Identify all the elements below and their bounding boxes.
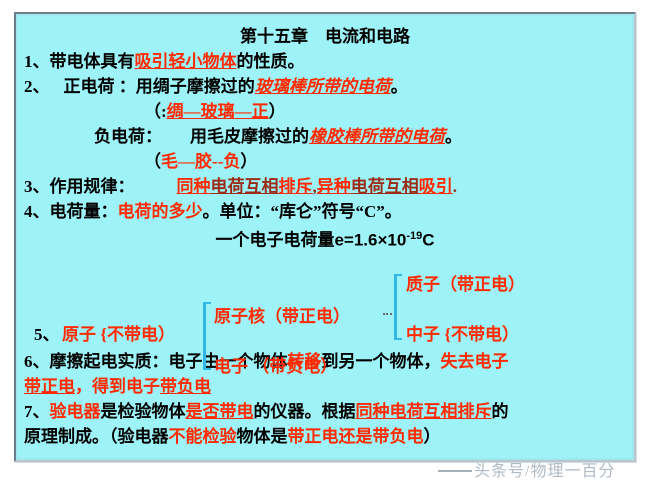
slide-text-body: 第十五章 电流和电路 1、带电体具有吸引轻小物体的性质。 2、正电荷 ：用绸子摩… xyxy=(18,16,632,458)
item5-root-label: 原子 {不带电） xyxy=(62,320,175,345)
list-item-3: 3、作用规律：同种电荷互相排斥,异种电荷互相吸引. xyxy=(24,174,626,199)
item2-neg-paren-close: ） xyxy=(240,152,257,171)
list-item-4: 4、电荷量：电荷的多少。单位：“库仑”符号“C”。 xyxy=(24,199,626,224)
item4-formula-a: 一个电子电荷量e=1.6×10 xyxy=(215,231,406,250)
atom-brace-left xyxy=(203,302,206,370)
item4-formula-exponent: -19 xyxy=(406,230,422,242)
atom-neutron-label: 中子 {不带电） xyxy=(406,320,519,345)
nucleus-connector-dots xyxy=(383,313,392,315)
watermark-rule xyxy=(438,470,472,472)
atom-brace-left-bottom-tick xyxy=(203,368,211,370)
item2-highlight: 玻璃棒所带的电荷 xyxy=(255,77,391,96)
item7-number: 7、 xyxy=(24,402,50,421)
item2-label-positive: 正电荷 ： xyxy=(64,77,136,96)
item7-highlight-a: 验电器 xyxy=(50,402,101,421)
item1-text-a: 带电体具有 xyxy=(50,52,135,71)
item1-highlight: 吸引轻小物体 xyxy=(135,52,237,71)
atom-proton-label: 质子（带正电） xyxy=(406,270,525,295)
nucleus-brace-right-bottom-tick xyxy=(394,338,402,340)
atom-nucleus-label: 原子核（带正电） xyxy=(214,302,350,327)
item3-number: 3、 xyxy=(24,177,50,196)
slide-frame: 第十五章 电流和电路 1、带电体具有吸引轻小物体的性质。 2、正电荷 ：用绸子摩… xyxy=(14,12,636,462)
atom-electron-label: 电子 （带负电） xyxy=(214,352,337,377)
item4-formula-b: C xyxy=(422,231,434,250)
item4-number: 4、 xyxy=(24,202,50,221)
list-item-2: 2、正电荷 ：用绸子摩擦过的玻璃棒所带的电荷。 xyxy=(24,74,626,99)
item1-text-b: 的性质。 xyxy=(237,52,305,71)
item2-neg-highlight: 橡胶棒所带的电荷 xyxy=(309,127,445,146)
item1-number: 1、 xyxy=(24,52,50,71)
item7-highlight-e: 不能检验 xyxy=(169,427,237,446)
atom-structure-diagram: 5、 原子 {不带电） 原子核（带正电） 电子 （带负电） 质子（带正电） xyxy=(18,268,640,380)
page-title: 第十五章 电流和电路 xyxy=(24,24,626,49)
item3-seg7: 吸引 xyxy=(419,177,453,196)
item7-highlight-c: 同种电荷互相排斥 xyxy=(356,402,492,421)
item2-negative: 负电荷：用毛皮摩擦过的橡胶棒所带的电荷。 xyxy=(24,124,626,149)
item7-continued: 原理制成。（验电器不能检验物体是带正电还是带负电） xyxy=(24,424,626,449)
item4-formula: 一个电子电荷量e=1.6×10-19C xyxy=(24,224,626,249)
item3-seg5: 异种 xyxy=(317,177,351,196)
item3-seg2: 电荷互相 xyxy=(211,177,279,196)
item2-label-negative: 负电荷： xyxy=(94,127,162,146)
item7-highlight-d: 验电器 xyxy=(118,427,169,446)
item2-text-b: 。 xyxy=(391,77,408,96)
item2-number: 2、 xyxy=(24,77,50,96)
item7-text-c: 的 xyxy=(492,402,509,421)
item2-paren-close: ） xyxy=(269,102,286,121)
item7-text-f: ） xyxy=(424,427,441,446)
item3-seg3: 排斥 xyxy=(279,177,313,196)
item3-seg8: . xyxy=(453,177,457,196)
item7-text-a: 是检验物体 xyxy=(101,402,186,421)
list-item-7: 7、验电器是检验物体是否带电的仪器。根据同种电荷互相排斥的 xyxy=(24,399,626,424)
item2-neg-text-a: 用毛皮摩擦过的 xyxy=(190,127,309,146)
item5-number: 5、 xyxy=(34,320,60,345)
item2-positive-formula: （:绸—玻璃—正） xyxy=(24,99,626,124)
item3-seg1: 同种 xyxy=(177,177,211,196)
item2-neg-paren-open: （ xyxy=(144,152,161,171)
item4-label: 电荷量： xyxy=(50,202,118,221)
slide-canvas: 第十五章 电流和电路 1、带电体具有吸引轻小物体的性质。 2、正电荷 ：用绸子摩… xyxy=(18,16,632,458)
watermark: 头条号/物理一百分 xyxy=(438,457,650,483)
item7-highlight-b: 是否带电 xyxy=(186,402,254,421)
item3-seg6: 电荷互相 xyxy=(351,177,419,196)
item2-neg-paren-text: 毛—胶--负 xyxy=(161,152,240,171)
item2-paren-text: 绸—玻璃—正 xyxy=(167,102,269,121)
watermark-text: 头条号/物理一百分 xyxy=(474,463,615,480)
item7-text-b: 的仪器。根据 xyxy=(254,402,356,421)
item4-text-a: 。单位：“库仑”符号“C”。 xyxy=(203,202,402,221)
item4-highlight: 电荷的多少 xyxy=(118,202,203,221)
list-item-1: 1、带电体具有吸引轻小物体的性质。 xyxy=(24,49,626,74)
item2-negative-formula: （毛—胶--负） xyxy=(24,149,626,174)
nucleus-brace-right-top-tick xyxy=(394,274,402,276)
item3-label: 作用规律： xyxy=(50,177,135,196)
item7-highlight-f: 带正电还是带负电 xyxy=(288,427,424,446)
item7-text-d: 原理制成。（ xyxy=(24,427,118,446)
item2-text-a: 用绸子摩擦过的 xyxy=(136,77,255,96)
title-text: 第十五章 电流和电路 xyxy=(240,27,410,46)
nucleus-brace-right xyxy=(394,274,397,340)
item2-neg-text-b: 。 xyxy=(445,127,462,146)
item7-text-e: 物体是 xyxy=(237,427,288,446)
atom-brace-left-top-tick xyxy=(203,302,211,304)
item2-paren-open: （: xyxy=(144,102,167,121)
